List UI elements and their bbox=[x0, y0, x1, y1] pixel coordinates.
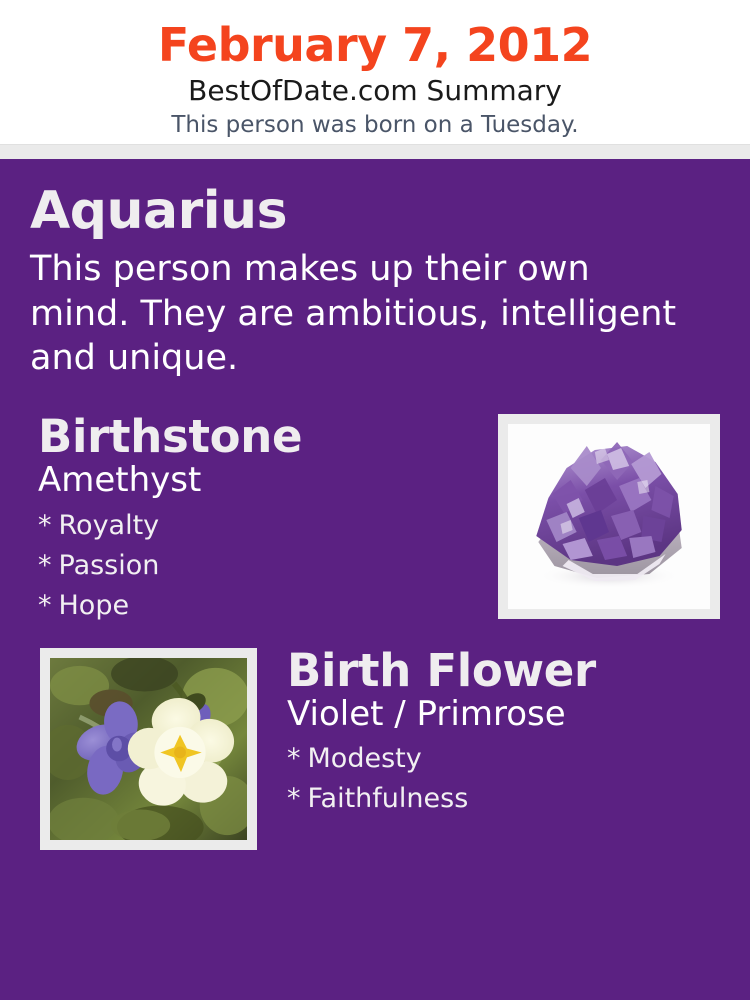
list-item: *Modesty bbox=[287, 739, 720, 779]
birthstone-photo-frame bbox=[498, 414, 720, 619]
list-item: *Hope bbox=[38, 586, 498, 626]
birth-flower-section: Birth Flower Violet / Primrose *Modesty … bbox=[30, 648, 720, 850]
birthstone-text-block: Birthstone Amethyst *Royalty *Passion *H… bbox=[30, 414, 498, 625]
bullet-asterisk-icon: * bbox=[287, 745, 301, 772]
list-item: *Faithfulness bbox=[287, 779, 720, 819]
birth-flower-trait-label: Modesty bbox=[308, 743, 422, 774]
details-panel: Aquarius This person makes up their own … bbox=[0, 159, 750, 1000]
zodiac-description: This person makes up their own mind. The… bbox=[30, 247, 690, 380]
summary-card: February 7, 2012 BestOfDate.com Summary … bbox=[0, 0, 750, 1000]
bullet-asterisk-icon: * bbox=[38, 592, 52, 619]
birthstone-name: Amethyst bbox=[38, 462, 498, 499]
zodiac-sign-name: Aquarius bbox=[30, 185, 720, 237]
zodiac-section: Aquarius This person makes up their own … bbox=[30, 185, 720, 380]
birthstone-trait-list: *Royalty *Passion *Hope bbox=[38, 506, 498, 626]
birthstone-trait-label: Royalty bbox=[59, 510, 160, 541]
bullet-asterisk-icon: * bbox=[287, 785, 301, 812]
born-day-text: This person was born on a Tuesday. bbox=[20, 113, 730, 138]
bullet-asterisk-icon: * bbox=[38, 552, 52, 579]
bullet-asterisk-icon: * bbox=[38, 512, 52, 539]
birthstone-title: Birthstone bbox=[38, 414, 498, 460]
list-item: *Passion bbox=[38, 546, 498, 586]
site-summary-label: BestOfDate.com Summary bbox=[20, 76, 730, 107]
header-divider bbox=[0, 144, 750, 159]
birth-flower-photo-frame bbox=[40, 648, 257, 850]
birth-flower-trait-label: Faithfulness bbox=[308, 783, 469, 814]
birth-flower-text-block: Birth Flower Violet / Primrose *Modesty … bbox=[257, 648, 720, 819]
header: February 7, 2012 BestOfDate.com Summary … bbox=[0, 0, 750, 144]
list-item: *Royalty bbox=[38, 506, 498, 546]
birthstone-trait-label: Passion bbox=[59, 550, 160, 581]
birth-flower-name: Violet / Primrose bbox=[287, 696, 720, 733]
birthstone-section: Birthstone Amethyst *Royalty *Passion *H… bbox=[30, 414, 720, 625]
birthstone-image bbox=[508, 424, 710, 609]
birth-flower-title: Birth Flower bbox=[287, 648, 720, 694]
amethyst-crystal-cluster-icon bbox=[508, 424, 710, 609]
birth-flower-image bbox=[50, 658, 247, 840]
birthstone-trait-label: Hope bbox=[59, 590, 130, 621]
page-title-date: February 7, 2012 bbox=[20, 22, 730, 68]
violet-and-primrose-flowers-icon bbox=[50, 658, 247, 840]
birth-flower-trait-list: *Modesty *Faithfulness bbox=[287, 739, 720, 819]
